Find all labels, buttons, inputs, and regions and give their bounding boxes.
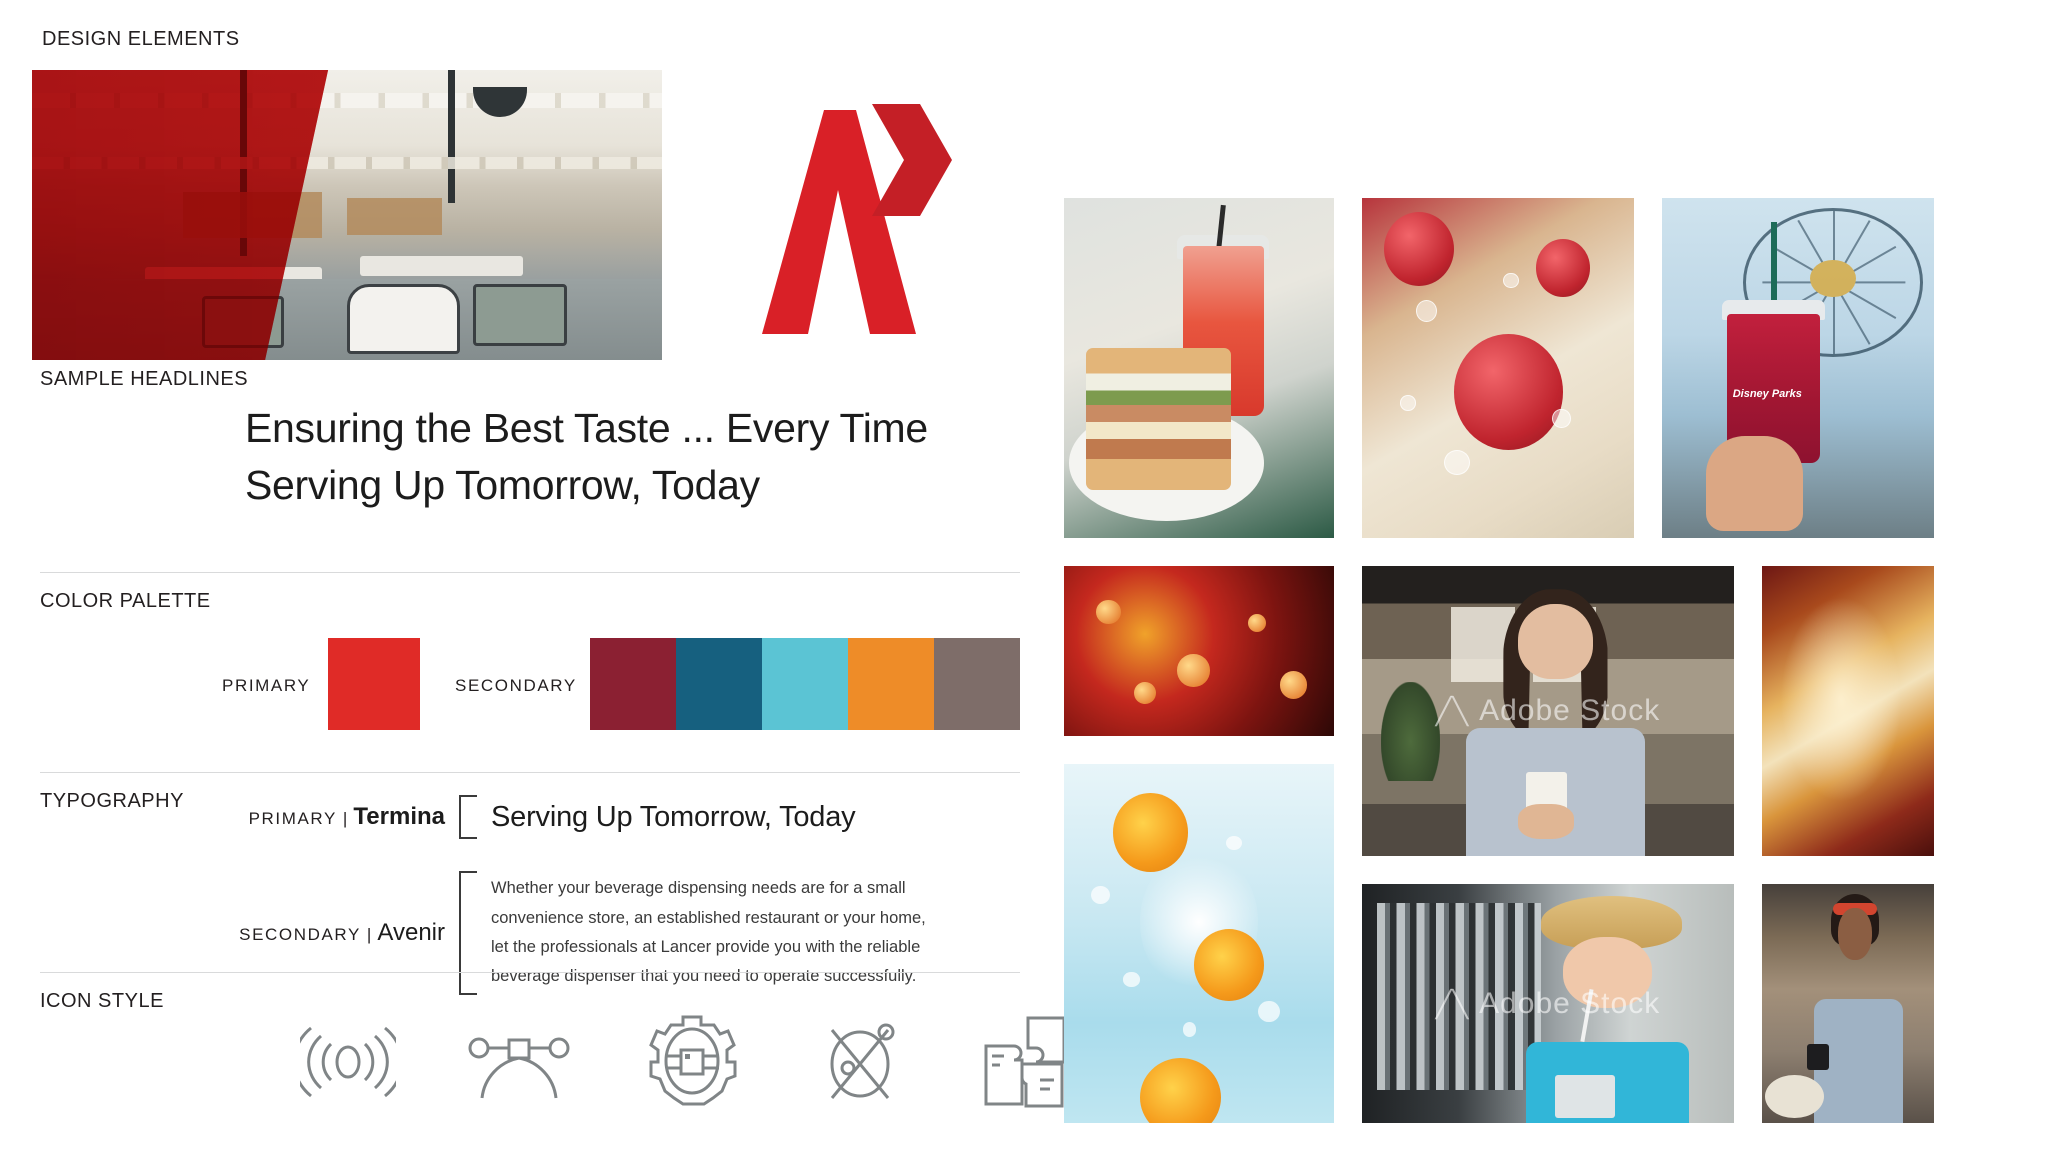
node-curve-connector-icon	[464, 1014, 574, 1110]
disney-parks-iced-drink-photo: Disney Parks	[1662, 198, 1934, 538]
secondary-swatch-4	[848, 638, 934, 730]
cafe-interior-photo	[32, 70, 662, 360]
cream-swirl-abstract-photo	[1762, 566, 1934, 856]
color-palette-label: COLOR PALETTE	[40, 590, 211, 613]
sample-headlines-block: Ensuring the Best Taste ... Every Time S…	[245, 400, 1025, 513]
woman-holding-coffee-cup-photo: ╱╲Adobe Stock	[1362, 566, 1734, 856]
orange-slices-in-water-photo	[1064, 764, 1334, 1123]
secondary-swatch-5	[934, 638, 1020, 730]
typography-primary-sample: Serving Up Tomorrow, Today	[491, 801, 855, 834]
photo-mood-grid: Disney Parks ╱╲Adobe Stock	[1064, 198, 1934, 1123]
lancer-logo-icon	[720, 102, 970, 342]
typography-primary-tag: PRIMARY |	[249, 809, 349, 828]
raspberries-in-sparkling-water-photo	[1362, 198, 1634, 538]
cola-bubbles-closeup-photo	[1064, 566, 1334, 736]
headline-1: Ensuring the Best Taste ... Every Time	[245, 400, 1025, 457]
design-elements-label: DESIGN ELEMENTS	[32, 22, 262, 59]
icon-style-row	[300, 1012, 1070, 1112]
headline-2: Serving Up Tomorrow, Today	[245, 457, 1025, 514]
typography-block: PRIMARY | Termina Serving Up Tomorrow, T…	[235, 795, 1025, 995]
primary-color-label: PRIMARY	[222, 676, 310, 696]
disney-parks-cup-label: Disney Parks	[1733, 388, 1802, 400]
adobe-stock-watermark: ╱╲Adobe Stock	[1436, 694, 1660, 728]
typography-secondary-row: SECONDARY | Avenir Whether your beverage…	[235, 871, 1025, 995]
secondary-color-label: SECONDARY	[455, 676, 577, 696]
signal-waves-icon	[300, 1014, 396, 1110]
typography-secondary-tag: SECONDARY |	[239, 925, 373, 944]
orbit-atom-icon	[810, 1012, 910, 1112]
gear-chip-icon	[642, 1012, 742, 1112]
typography-secondary-face: Avenir	[377, 919, 445, 946]
divider-icon-style	[40, 972, 1020, 973]
sandwich-and-lemonade-photo	[1064, 198, 1334, 538]
secondary-swatch-3	[762, 638, 848, 730]
secondary-color-swatches	[590, 638, 1020, 730]
typography-secondary-sample: Whether your beverage dispensing needs a…	[491, 874, 941, 991]
secondary-swatch-1	[590, 638, 676, 730]
woman-with-phone-cafe-photo	[1762, 884, 1934, 1123]
secondary-swatch-2	[676, 638, 762, 730]
design-elements-band: DESIGN ELEMENTS	[32, 70, 1022, 360]
typography-primary-row: PRIMARY | Termina Serving Up Tomorrow, T…	[235, 795, 1025, 839]
girl-at-soda-fountain-photo: ╱╲Adobe Stock	[1362, 884, 1734, 1123]
icon-style-label: ICON STYLE	[40, 990, 164, 1013]
primary-color-swatch	[328, 638, 420, 730]
typography-label: TYPOGRAPHY	[40, 790, 184, 813]
brand-guide-left-column: DESIGN ELEMENTS SAMPLE HEADLINES Ensurin…	[0, 0, 1030, 1152]
divider-typography	[40, 772, 1020, 773]
typography-primary-face: Termina	[353, 803, 445, 830]
divider-color-palette	[40, 572, 1020, 573]
puzzle-documents-icon	[978, 1012, 1070, 1112]
adobe-stock-watermark-2: ╱╲Adobe Stock	[1436, 987, 1660, 1021]
logo-panel	[692, 80, 1022, 355]
sample-headlines-label: SAMPLE HEADLINES	[40, 368, 248, 391]
